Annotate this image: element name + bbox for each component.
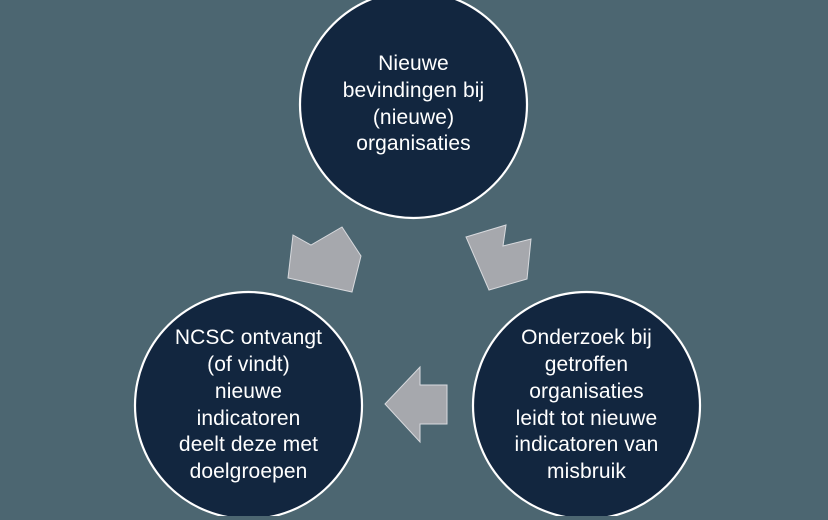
arrow-down-right-icon xyxy=(466,225,531,290)
arrow-up-right-icon xyxy=(288,227,361,292)
cycle-diagram-canvas xyxy=(0,0,828,516)
arrow-left-icon xyxy=(385,367,447,442)
node-circle-top[interactable] xyxy=(300,0,527,218)
node-circle-bottom-right[interactable] xyxy=(473,292,700,516)
cycle-diagram: Nieuwe bevindingen bij (nieuwe) organisa… xyxy=(0,0,828,516)
node-circle-bottom-left[interactable] xyxy=(135,292,362,516)
